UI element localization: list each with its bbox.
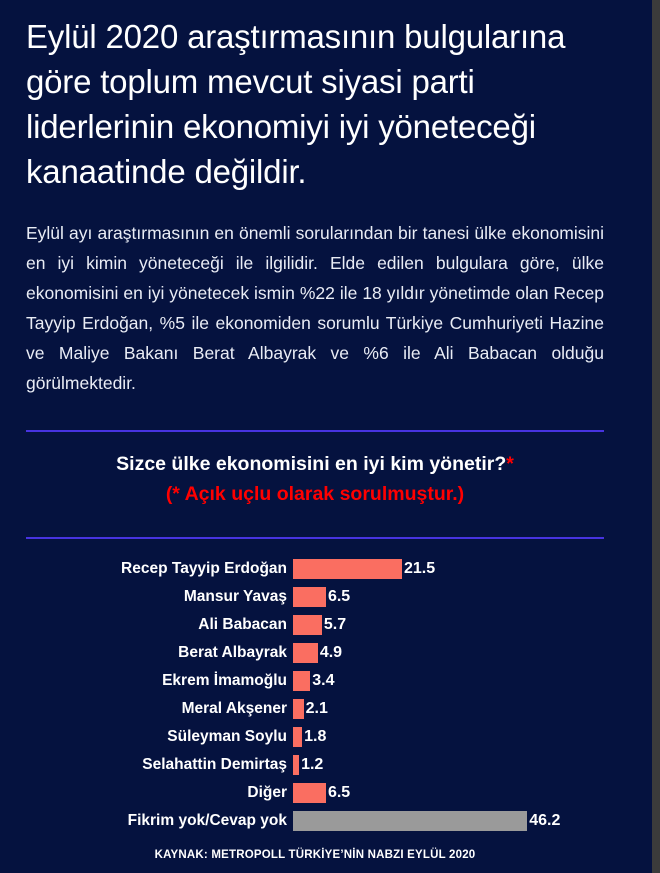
- bar-label: Diğer: [27, 783, 287, 803]
- divider-top: [26, 430, 604, 432]
- question-subtitle: (* Açık uçlu olarak sorulmuştur.): [26, 480, 604, 508]
- bar-track: 46.2: [293, 811, 642, 831]
- bar-track: 3.4: [293, 671, 642, 691]
- bar-row: Meral Akşener2.1: [0, 696, 652, 724]
- bar-row: Berat Albayrak4.9: [0, 640, 652, 668]
- bar-track: 6.5: [293, 587, 642, 607]
- bar-track: 1.8: [293, 727, 642, 747]
- bar-row: Mansur Yavaş6.5: [0, 584, 652, 612]
- bar-label: Selahattin Demirtaş: [27, 755, 287, 775]
- window-edge-strip: [652, 0, 660, 873]
- bar-row: Selahattin Demirtaş1.2: [0, 752, 652, 780]
- bar-fill: [293, 699, 304, 719]
- bar-value: 4.9: [318, 643, 342, 663]
- bar-fill: [293, 615, 322, 635]
- question-asterisk: *: [506, 453, 514, 475]
- bar-track: 21.5: [293, 559, 642, 579]
- bar-fill: [293, 671, 310, 691]
- question-block: Sizce ülke ekonomisini en iyi kim yöneti…: [26, 450, 604, 508]
- bar-value: 6.5: [326, 587, 350, 607]
- bar-fill: [293, 727, 302, 747]
- bar-fill: [293, 811, 527, 831]
- bar-label: Ekrem İmamoğlu: [27, 671, 287, 691]
- bar-value: 46.2: [527, 811, 560, 831]
- bar-row: Ali Babacan5.7: [0, 612, 652, 640]
- bar-chart: Recep Tayyip Erdoğan21.5Mansur Yavaş6.5A…: [0, 556, 652, 841]
- bar-label: Fikrim yok/Cevap yok: [27, 811, 287, 831]
- bar-label: Mansur Yavaş: [27, 587, 287, 607]
- bar-value: 1.2: [299, 755, 323, 775]
- bar-value: 21.5: [402, 559, 435, 579]
- bar-value: 6.5: [326, 783, 350, 803]
- bar-row: Ekrem İmamoğlu3.4: [0, 668, 652, 696]
- bar-track: 2.1: [293, 699, 642, 719]
- question-title: Sizce ülke ekonomisini en iyi kim yöneti…: [26, 450, 604, 478]
- infographic-page: Eylül 2020 araştırmasının bulgularına gö…: [0, 0, 652, 873]
- bar-fill: [293, 643, 318, 663]
- bar-value: 3.4: [310, 671, 334, 691]
- bar-fill: [293, 783, 326, 803]
- bar-value: 2.1: [304, 699, 328, 719]
- bar-label: Berat Albayrak: [27, 643, 287, 663]
- bar-label: Recep Tayyip Erdoğan: [27, 559, 287, 579]
- bar-fill: [293, 587, 326, 607]
- bar-track: 5.7: [293, 615, 642, 635]
- bar-track: 1.2: [293, 755, 642, 775]
- divider-bottom: [26, 537, 604, 539]
- headline: Eylül 2020 araştırmasının bulgularına gö…: [26, 14, 616, 194]
- bar-fill: [293, 559, 402, 579]
- source-footer: KAYNAK: METROPOLL TÜRKİYE’NİN NABZI EYLÜ…: [26, 849, 604, 861]
- bar-row: Diğer6.5: [0, 780, 652, 808]
- bar-value: 1.8: [302, 727, 326, 747]
- bar-value: 5.7: [322, 615, 346, 635]
- bar-label: Süleyman Soylu: [27, 727, 287, 747]
- bar-row: Recep Tayyip Erdoğan21.5: [0, 556, 652, 584]
- bar-label: Meral Akşener: [27, 699, 287, 719]
- bar-label: Ali Babacan: [27, 615, 287, 635]
- bar-row: Süleyman Soylu1.8: [0, 724, 652, 752]
- bar-track: 4.9: [293, 643, 642, 663]
- bar-row: Fikrim yok/Cevap yok46.2: [0, 808, 652, 836]
- body-paragraph: Eylül ayı araştırmasının en önemli sorul…: [26, 218, 604, 398]
- bar-track: 6.5: [293, 783, 642, 803]
- question-title-text: Sizce ülke ekonomisini en iyi kim yöneti…: [116, 453, 506, 475]
